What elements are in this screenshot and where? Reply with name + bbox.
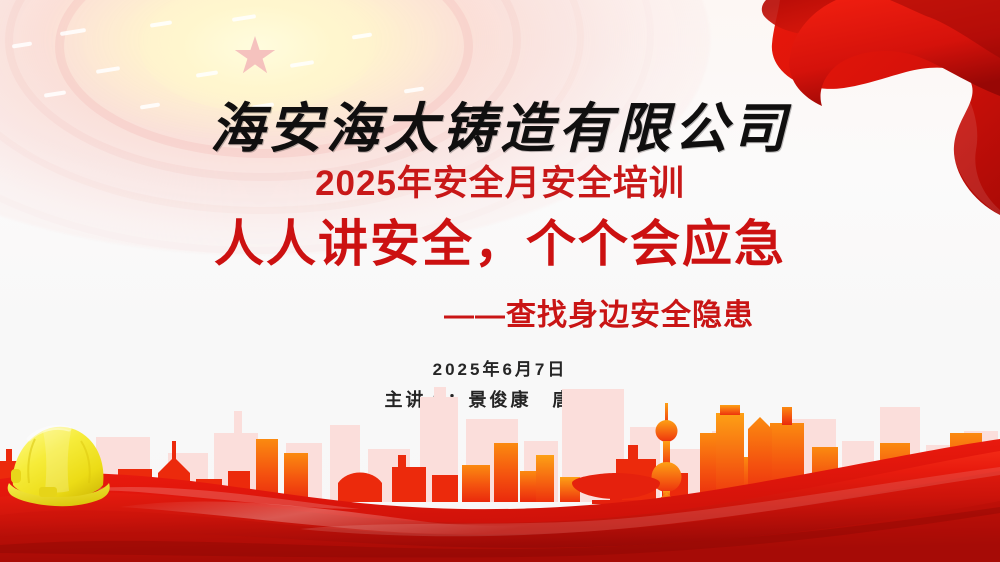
skyline-and-silk: [0, 387, 1000, 562]
tagline: ——查找身边安全隐患: [0, 290, 1000, 334]
company-title: 海安海太铸造有限公司: [0, 84, 1000, 163]
training-subtitle: 2025年安全月安全培训: [0, 155, 1000, 206]
presentation-slide: 海安海太铸造有限公司 2025年安全月安全培训 人人讲安全，个个会应急 ——查找…: [0, 0, 1000, 562]
yellow-safety-helmet-icon: [5, 417, 115, 507]
bottom-scene: [0, 387, 1000, 562]
date-label: 2025年6月7日: [0, 355, 1000, 380]
main-slogan: 人人讲安全，个个会应急: [0, 204, 1000, 276]
